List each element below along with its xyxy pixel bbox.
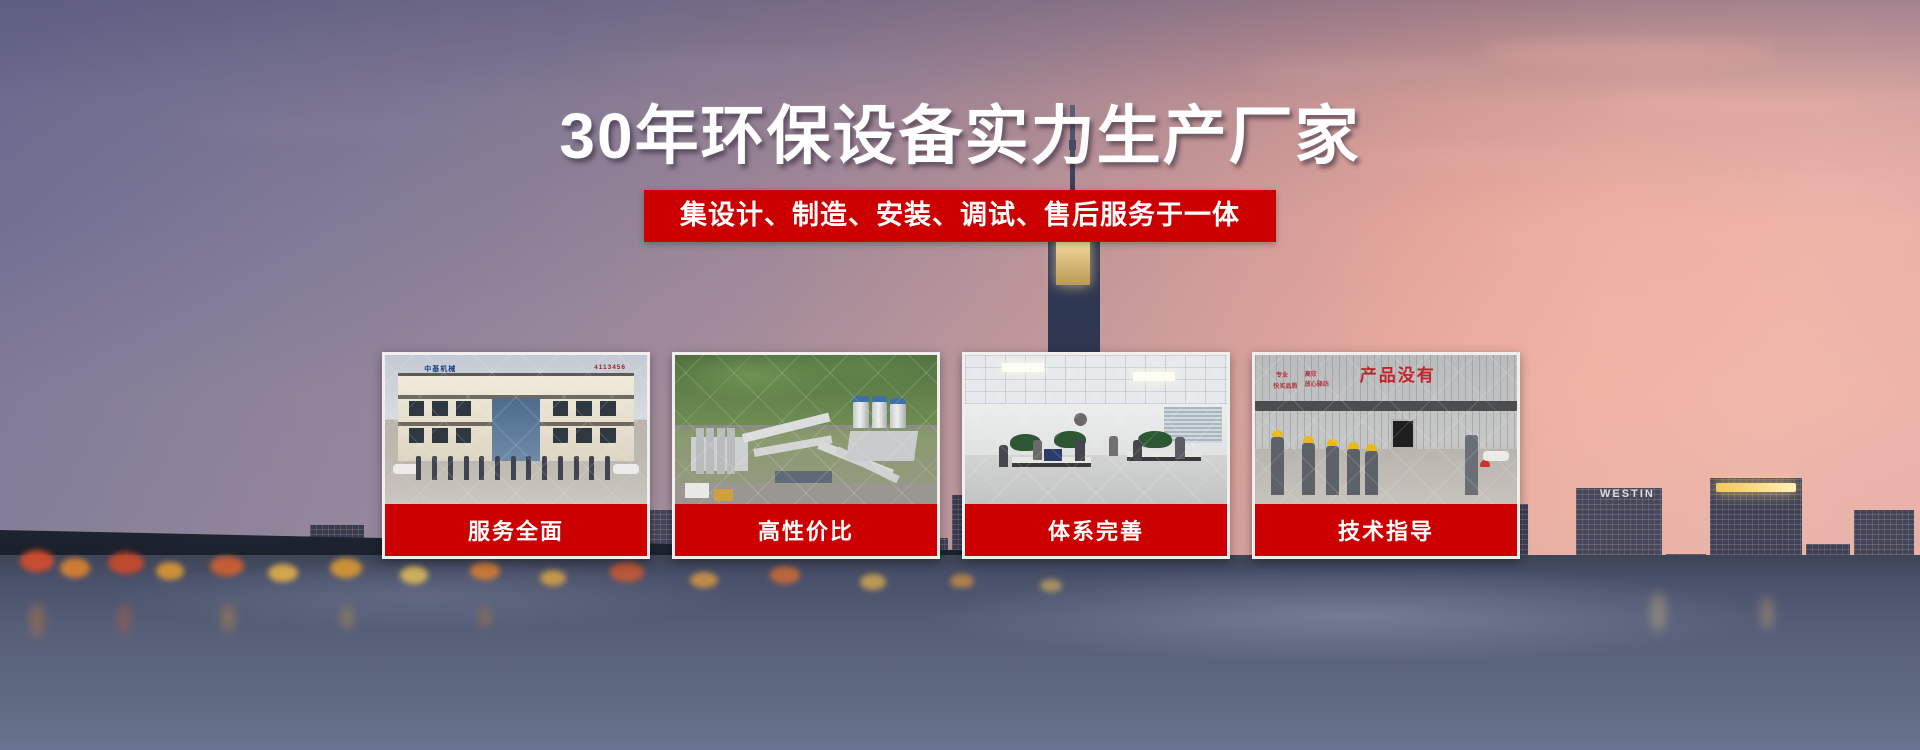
photo-company-sign: 中基机械 bbox=[424, 364, 456, 374]
card-photo-headquarters: 中基机械 4113456 bbox=[385, 355, 647, 507]
westin-roof-sign: WESTIN bbox=[1600, 488, 1655, 500]
photo-yard-ground bbox=[1255, 449, 1517, 507]
photo-wall-small-text: 快买品质 bbox=[1273, 381, 1297, 390]
bank-light bbox=[20, 550, 54, 572]
card-photo-plant-aerial bbox=[675, 355, 937, 507]
cloud bbox=[600, 55, 940, 75]
feature-card[interactable]: 中基机械 4113456 服务全面 bbox=[382, 352, 650, 559]
feature-card[interactable]: 高性价比 bbox=[672, 352, 940, 559]
photo-window-blinds bbox=[1164, 407, 1222, 443]
feature-card-list: 中基机械 4113456 服务全面 bbox=[382, 352, 1538, 499]
water-light-reflection bbox=[30, 602, 44, 638]
bank-light bbox=[610, 562, 644, 582]
hero-banner: WESTIN 30年环保设备实力生产厂家 集设计、制造、安装、调试、售后服务于一… bbox=[0, 0, 1920, 750]
bank-light bbox=[470, 562, 500, 580]
photo-wall-small-text: 放心驿站 bbox=[1305, 379, 1329, 388]
water-light-reflection bbox=[222, 604, 234, 632]
photo-parked-car bbox=[1483, 451, 1509, 461]
bank-light bbox=[1040, 579, 1062, 592]
bank-light bbox=[268, 564, 298, 582]
hotel-roof-glow bbox=[1716, 483, 1796, 492]
card-photo-workers-briefing: 产品没有 专业 高效 快买品质 放心驿站 bbox=[1255, 355, 1517, 507]
photo-entrance-glass bbox=[492, 398, 539, 462]
bank-light bbox=[400, 566, 428, 584]
bank-light bbox=[210, 556, 244, 576]
feature-card[interactable]: 体系完善 bbox=[962, 352, 1230, 559]
photo-wall-slogan: 产品没有 bbox=[1360, 361, 1436, 386]
water-light-reflection bbox=[118, 604, 130, 634]
card-photo-office-interior bbox=[965, 355, 1227, 507]
photo-wall-window-strip bbox=[1255, 401, 1517, 412]
bank-light bbox=[770, 566, 800, 584]
photo-factory-door bbox=[1391, 419, 1415, 449]
water-light-reflection bbox=[1760, 596, 1774, 630]
cloud bbox=[1250, 60, 1510, 82]
card-caption: 高性价比 bbox=[675, 504, 937, 556]
photo-wall-small-text: 高效 bbox=[1305, 369, 1317, 378]
card-caption: 技术指导 bbox=[1255, 504, 1517, 556]
feature-card[interactable]: 产品没有 专业 高效 快买品质 放心驿站 bbox=[1252, 352, 1520, 559]
bank-light bbox=[60, 558, 90, 578]
bank-light bbox=[156, 562, 184, 580]
card-caption: 体系完善 bbox=[965, 504, 1227, 556]
subtitle-badge: 集设计、制造、安装、调试、售后服务于一体 bbox=[644, 190, 1276, 242]
photo-wall-small-text: 专业 bbox=[1276, 370, 1288, 379]
card-caption: 服务全面 bbox=[385, 504, 647, 556]
subtitle-container: 集设计、制造、安装、调试、售后服务于一体 bbox=[0, 190, 1920, 242]
bank-light bbox=[690, 572, 718, 588]
bank-light bbox=[860, 574, 886, 590]
photo-phone-number: 4113456 bbox=[594, 364, 626, 371]
water-light-reflection bbox=[342, 606, 352, 630]
photo-red-helmet bbox=[1480, 460, 1490, 467]
cloud bbox=[1480, 40, 1780, 66]
page-title: 30年环保设备实力生产厂家 bbox=[0, 104, 1920, 168]
water-light-reflection bbox=[480, 606, 490, 628]
bank-light bbox=[330, 558, 362, 578]
bank-light bbox=[108, 552, 144, 574]
photo-laptop bbox=[1044, 449, 1062, 461]
bank-light bbox=[950, 574, 974, 588]
water-light-reflection bbox=[1650, 592, 1666, 632]
bank-light bbox=[540, 570, 566, 586]
photo-wall-emblem bbox=[1065, 410, 1096, 430]
